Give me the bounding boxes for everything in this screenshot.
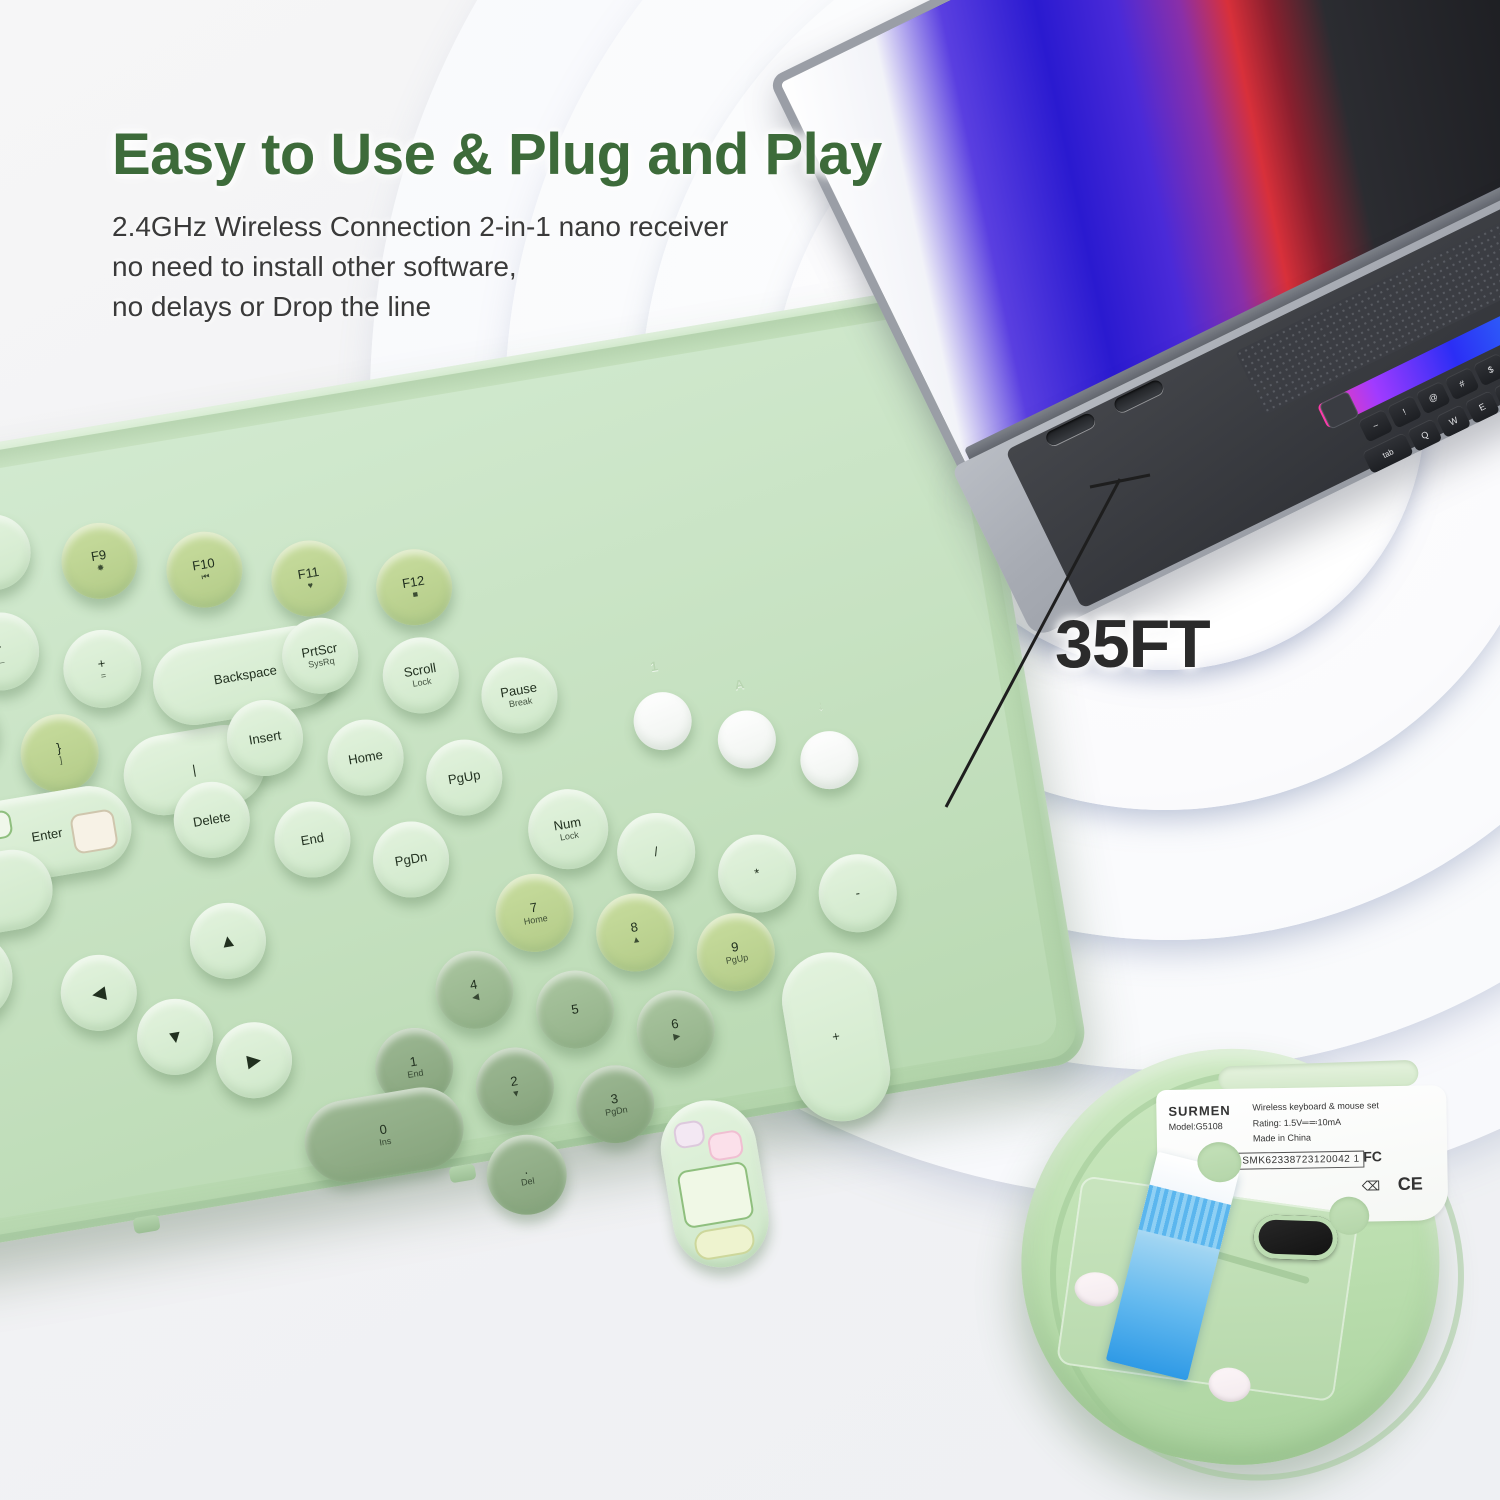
key-sublabel: PgUp bbox=[725, 953, 749, 966]
key-label: | bbox=[192, 763, 198, 777]
scroll-lock-led-mark: ↓ bbox=[816, 697, 825, 713]
arrow-up-icon: ▲ bbox=[631, 934, 641, 945]
key-bracket-left[interactable]: { [ bbox=[0, 687, 4, 777]
key-numpad-8[interactable]: 8 ▲ bbox=[590, 888, 680, 978]
keyboard-foot bbox=[132, 1214, 160, 1234]
key-label: + bbox=[97, 656, 107, 671]
key-sublabel: Lock bbox=[559, 830, 579, 842]
key-numpad-7[interactable]: 7 Home bbox=[490, 868, 580, 958]
key-pause-break[interactable]: Pause Break bbox=[476, 652, 564, 740]
key-label: 6 bbox=[670, 1017, 679, 1032]
key-label: 1 bbox=[409, 1054, 418, 1069]
pull-tab-stripes bbox=[1138, 1185, 1231, 1250]
key-label: F10 bbox=[191, 556, 215, 573]
key-label: 8 bbox=[630, 920, 639, 935]
key-numpad-minus[interactable]: - bbox=[813, 848, 903, 938]
arrow-left-icon: ◀ bbox=[90, 982, 107, 1003]
key-numlock[interactable]: Num Lock bbox=[522, 783, 614, 875]
subtext-line-2: no need to install other software, bbox=[112, 247, 882, 287]
key-sublabel: ] bbox=[59, 755, 63, 765]
optical-sensor-window bbox=[1253, 1214, 1338, 1261]
key-label: 0 bbox=[379, 1122, 388, 1137]
key-arrow-up[interactable]: ▲ bbox=[184, 897, 272, 985]
key-label: Insert bbox=[248, 729, 282, 748]
key-sublabel: PgDn bbox=[605, 1105, 629, 1118]
key-numpad-multiply[interactable]: * bbox=[712, 829, 802, 919]
key-label: 3 bbox=[610, 1092, 619, 1107]
key-sublabel: End bbox=[407, 1068, 424, 1080]
key-sublabel: _ bbox=[0, 654, 5, 664]
arrow-up-icon: ▲ bbox=[218, 930, 239, 952]
origin-text: Made in China bbox=[1253, 1132, 1311, 1143]
key-label: 5 bbox=[570, 1002, 579, 1017]
laptop-keycap[interactable]: E bbox=[1464, 390, 1500, 424]
key-arrow-right[interactable]: ▶ bbox=[210, 1016, 298, 1104]
key-numpad-5[interactable]: 5 bbox=[530, 965, 620, 1055]
laptop-keycap[interactable]: ! bbox=[1387, 395, 1423, 429]
serial-text: SMK62338723120042 1 bbox=[1237, 1151, 1365, 1170]
key-f10[interactable]: F10 ⏮ bbox=[161, 526, 249, 614]
key-label: F9 bbox=[90, 548, 107, 564]
key-label: F11 bbox=[297, 565, 320, 582]
laptop-keycap[interactable]: ~ bbox=[1358, 409, 1394, 443]
model-text: Model:G5108 bbox=[1169, 1121, 1223, 1132]
play-pause-icon: ♥ bbox=[307, 581, 314, 591]
key-sublabel: Home bbox=[523, 913, 548, 926]
key-label: 2 bbox=[509, 1074, 518, 1089]
key-sublabel: Lock bbox=[412, 676, 432, 688]
arrow-down-icon: ▼ bbox=[511, 1088, 521, 1099]
key-sublabel: Ins bbox=[379, 1136, 392, 1147]
key-sublabel: = bbox=[100, 671, 107, 681]
key-numpad-2[interactable]: 2 ▼ bbox=[470, 1042, 560, 1132]
cute-paw-sticker bbox=[706, 1129, 744, 1162]
key-label: - bbox=[0, 639, 2, 653]
key-end[interactable]: End bbox=[269, 796, 357, 884]
key-label: + bbox=[831, 1029, 841, 1044]
key-label: Enter bbox=[31, 826, 64, 845]
keyboard-foot bbox=[448, 1163, 476, 1183]
wireless-mouse-underside: SURMEN Model:G5108 Wireless keyboard & m… bbox=[972, 1009, 1500, 1500]
key-home[interactable]: Home bbox=[322, 714, 410, 802]
product-marketing-image: ~!@#$%^& tabQWER 35FT Easy to Use & Plug… bbox=[0, 0, 1500, 1500]
brand-text: SURMEN bbox=[1168, 1103, 1231, 1119]
key-label: End bbox=[300, 831, 325, 848]
num-lock-led-mark: 1 bbox=[649, 658, 659, 674]
laptop-keycap[interactable]: W bbox=[1436, 404, 1472, 438]
key-sublabel: SysRq bbox=[308, 656, 336, 670]
key-numpad-enter[interactable] bbox=[654, 1093, 776, 1275]
key-ctrl[interactable]: Ctrl bbox=[0, 926, 19, 1033]
arrow-left-icon: ◀ bbox=[471, 992, 479, 1002]
key-label: Backspace bbox=[213, 663, 278, 687]
key-numpad-6[interactable]: 6 ▶ bbox=[631, 984, 721, 1074]
cute-bed-sticker bbox=[69, 808, 119, 855]
caps-lock-led bbox=[713, 706, 780, 773]
laptop-keycap[interactable]: # bbox=[1444, 367, 1480, 401]
distance-callout-label: 35FT bbox=[1055, 605, 1210, 683]
arrow-down-icon: ▼ bbox=[165, 1026, 186, 1048]
laptop-keycap[interactable]: Q bbox=[1407, 418, 1443, 452]
key-f12[interactable]: F12 ■ bbox=[370, 544, 458, 632]
headline-subtext: 2.4GHz Wireless Connection 2-in-1 nano r… bbox=[112, 207, 882, 326]
cute-leaf-sticker bbox=[692, 1222, 756, 1261]
key-arrow-left[interactable]: ◀ bbox=[55, 949, 143, 1037]
key-label: . bbox=[523, 1163, 529, 1177]
weee-mark-icon: ⌫ bbox=[1362, 1178, 1381, 1194]
key-label: F12 bbox=[401, 574, 425, 591]
key-pgdn[interactable]: PgDn bbox=[367, 816, 455, 904]
key-sublabel: Break bbox=[508, 696, 533, 709]
laptop-keycap[interactable]: @ bbox=[1415, 381, 1451, 415]
product-text: Wireless keyboard & mouse set bbox=[1252, 1100, 1379, 1112]
rating-text: Rating: 1.5V═≕10mA bbox=[1253, 1117, 1342, 1130]
subtext-line-3: no delays or Drop the line bbox=[112, 287, 882, 327]
key-label: Delete bbox=[192, 810, 231, 830]
next-track-icon: ■ bbox=[412, 589, 419, 599]
cute-cloud-sticker bbox=[672, 1119, 706, 1150]
key-bracket-right[interactable]: } ] bbox=[15, 708, 105, 798]
key-f9[interactable]: F9 ✸ bbox=[56, 517, 144, 605]
cute-bunny-frame-sticker bbox=[676, 1160, 755, 1229]
key-label: * bbox=[753, 866, 760, 880]
mouse-bottom-shell: SURMEN Model:G5108 Wireless keyboard & m… bbox=[996, 1022, 1468, 1491]
caps-lock-led-mark: A bbox=[733, 676, 745, 692]
scroll-lock-led bbox=[796, 727, 863, 794]
key-f8[interactable]: F8 ♪ bbox=[0, 509, 36, 597]
arrow-right-icon: ▶ bbox=[673, 1031, 681, 1041]
key-label: } bbox=[56, 741, 63, 755]
keyboard-plate: F7 ✕ F8 ♪ F9 ✸ F10 ⏮ F11 ♥ bbox=[0, 311, 1060, 1227]
fcc-mark-icon: FC bbox=[1363, 1148, 1382, 1164]
keyboard-case: F7 ✕ F8 ♪ F9 ✸ F10 ⏮ F11 ♥ bbox=[0, 281, 1089, 1255]
key-pgup[interactable]: PgUp bbox=[421, 734, 509, 822]
key-label: PgDn bbox=[394, 850, 428, 869]
key-label: PgUp bbox=[447, 768, 481, 787]
key-label: 4 bbox=[469, 977, 478, 992]
volume-up-icon: ✸ bbox=[96, 563, 105, 574]
key-numpad-4[interactable]: 4 ◀ bbox=[430, 945, 520, 1035]
key-sublabel: Del bbox=[520, 1176, 535, 1188]
key-f11[interactable]: F11 ♥ bbox=[266, 535, 354, 623]
key-arrow-down[interactable]: ▼ bbox=[131, 993, 219, 1081]
key-equals[interactable]: + = bbox=[57, 624, 147, 714]
arrow-right-icon: ▶ bbox=[246, 1050, 263, 1071]
key-numpad-0[interactable]: 0 Ins bbox=[298, 1081, 469, 1188]
ce-mark-icon: CE bbox=[1398, 1174, 1423, 1195]
subtext-line-1: 2.4GHz Wireless Connection 2-in-1 nano r… bbox=[112, 207, 882, 247]
key-label: 7 bbox=[529, 900, 538, 915]
key-numpad-9[interactable]: 9 PgUp bbox=[691, 907, 781, 997]
cute-cloud-sticker bbox=[0, 809, 14, 843]
num-lock-led bbox=[629, 688, 696, 755]
key-label: / bbox=[653, 845, 659, 859]
key-numpad-divide[interactable]: / bbox=[611, 807, 701, 897]
headline-block: Easy to Use & Plug and Play 2.4GHz Wirel… bbox=[112, 124, 882, 327]
key-label: - bbox=[854, 886, 861, 900]
key-label: Home bbox=[347, 748, 383, 767]
previous-track-icon: ⏮ bbox=[201, 572, 211, 583]
key-minus[interactable]: - _ bbox=[0, 607, 45, 697]
key-label: 9 bbox=[730, 940, 739, 955]
key-scroll-lock[interactable]: Scroll Lock bbox=[377, 632, 465, 720]
page-title: Easy to Use & Plug and Play bbox=[112, 124, 882, 185]
